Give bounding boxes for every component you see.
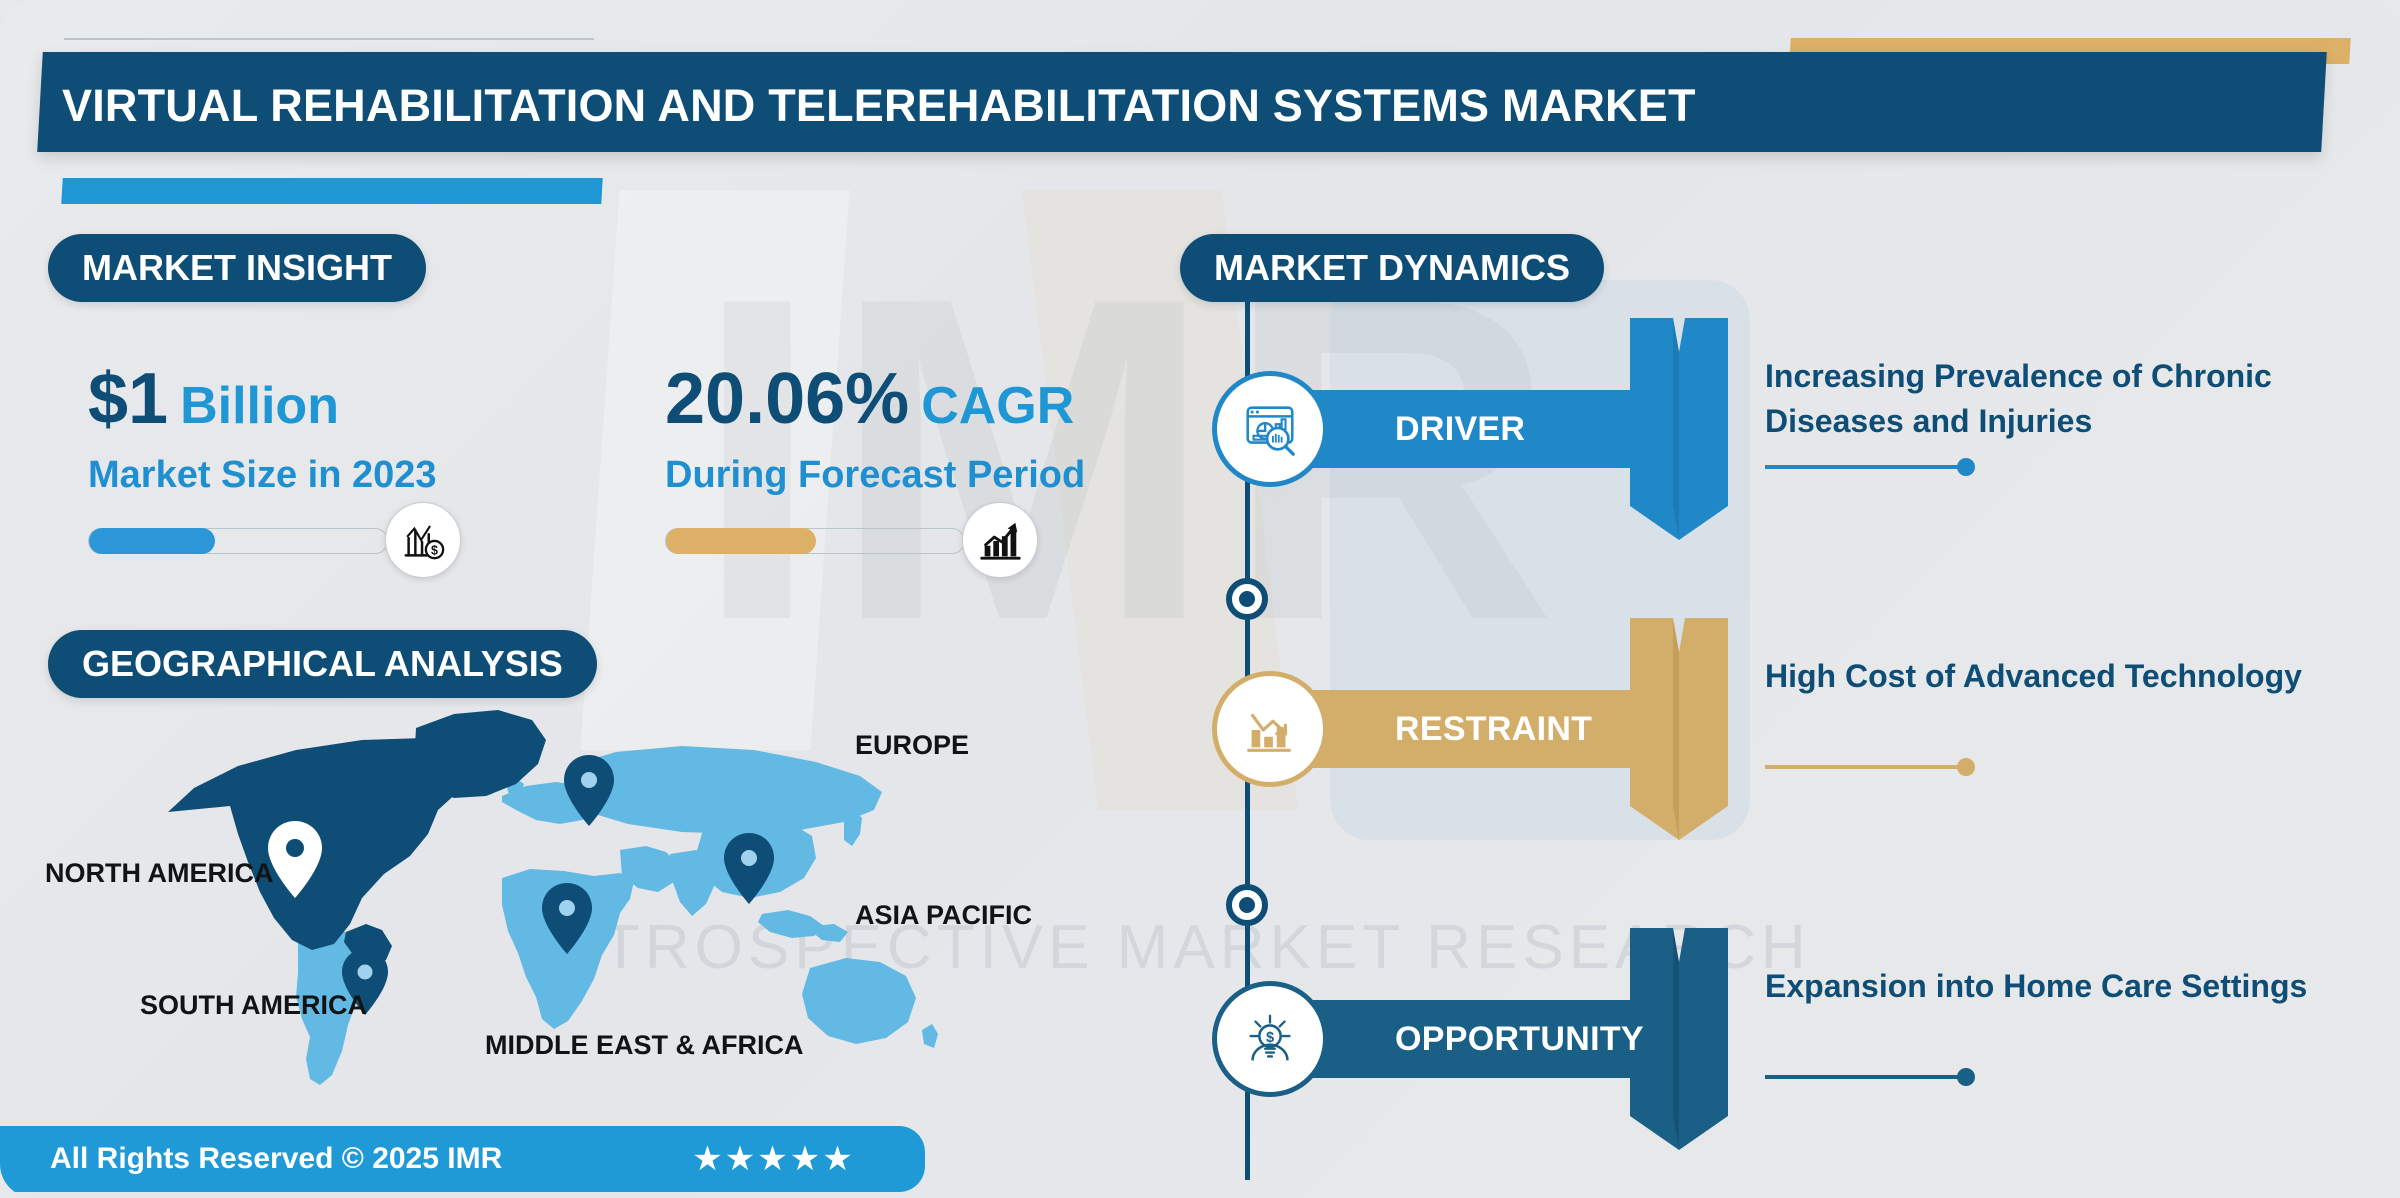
dynamics-node-2 <box>1226 884 1268 926</box>
opportunity-rule-dot <box>1957 1068 1975 1086</box>
opportunity-description: Expansion into Home Care Settings <box>1765 964 2385 1009</box>
declining-chart-icon <box>1217 676 1323 782</box>
restraint-rule-dot <box>1957 758 1975 776</box>
bar-chart-dollar-icon: $ <box>385 502 461 578</box>
progress-track-cagr <box>665 528 965 554</box>
footer-bar: All Rights Reserved © 2025 IMR ★★★★★ <box>0 1126 925 1192</box>
driver-description: Increasing Prevalence of Chronic Disease… <box>1765 354 2385 445</box>
section-heading-market-insight: MARKET INSIGHT <box>48 234 426 302</box>
map-label-south-america: SOUTH AMERICA <box>140 990 367 1021</box>
map-label-asia-pacific: ASIA PACIFIC <box>855 900 1032 931</box>
stat-caption: Market Size in 2023 <box>88 454 437 497</box>
copyright-text: All Rights Reserved © 2025 IMR <box>50 1142 502 1176</box>
infographic-canvas: IMR INTROSPECTIVE MARKET RESEARCH VIRTUA… <box>0 0 2400 1198</box>
stat-value-row: 20.06%CAGR <box>665 358 1085 440</box>
dynamics-node-1 <box>1226 578 1268 620</box>
stat-unit: Billion <box>180 377 339 435</box>
stat-cagr: 20.06%CAGR During Forecast Period <box>665 358 1085 497</box>
rating-stars: ★★★★★ <box>692 1139 854 1179</box>
page-title: VIRTUAL REHABILITATION AND TELEREHABILIT… <box>62 80 2262 132</box>
progress-track-market-size <box>88 528 388 554</box>
stat-value: 20.06% <box>665 359 909 439</box>
section-heading-market-dynamics: MARKET DYNAMICS <box>1180 234 1604 302</box>
map-label-europe: EUROPE <box>855 730 969 761</box>
driver-rule <box>1765 465 1965 469</box>
stat-value-row: $1Billion <box>88 358 437 440</box>
stat-caption: During Forecast Period <box>665 454 1085 497</box>
restraint-label: RESTRAINT <box>1395 710 1592 749</box>
restraint-description: High Cost of Advanced Technology <box>1765 654 2385 699</box>
svg-text:$: $ <box>431 543 438 557</box>
growth-chart-icon <box>962 502 1038 578</box>
stat-market-size: $1Billion Market Size in 2023 <box>88 358 437 497</box>
progress-fill-market-size <box>89 528 215 554</box>
stat-value: $1 <box>88 359 168 439</box>
svg-text:$: $ <box>1266 1030 1274 1046</box>
lightbulb-dollar-icon: $ <box>1217 986 1323 1092</box>
restraint-ribbon: RESTRAINT <box>1275 690 1660 768</box>
dashboard-magnifier-icon <box>1217 376 1323 482</box>
section-heading-geographical-analysis: GEOGRAPHICAL ANALYSIS <box>48 630 597 698</box>
opportunity-ribbon: OPPORTUNITY <box>1275 1000 1660 1078</box>
opportunity-rule <box>1765 1075 1965 1079</box>
title-hairline <box>64 38 594 40</box>
opportunity-label: OPPORTUNITY <box>1395 1020 1644 1059</box>
restraint-rule <box>1765 765 1965 769</box>
progress-fill-cagr <box>666 528 816 554</box>
map-label-north-america: NORTH AMERICA <box>45 858 274 889</box>
driver-ribbon: DRIVER <box>1275 390 1660 468</box>
stat-unit: CAGR <box>921 377 1074 435</box>
title-underbar-accent <box>61 178 602 204</box>
driver-label: DRIVER <box>1395 410 1525 449</box>
map-label-middle-east-africa: MIDDLE EAST & AFRICA <box>485 1030 804 1061</box>
driver-rule-dot <box>1957 458 1975 476</box>
